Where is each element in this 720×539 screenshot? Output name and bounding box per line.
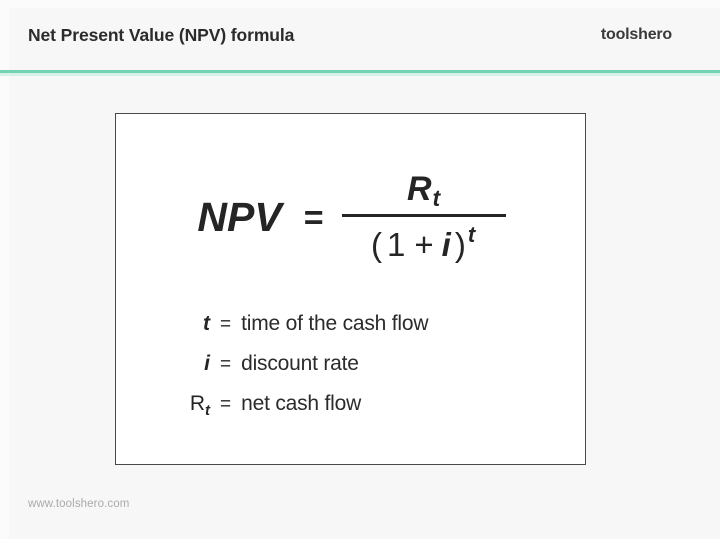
legend-equals-sign: =	[220, 314, 231, 336]
legend-symbol-main: i	[204, 352, 210, 375]
legend-row: i = discount rate	[116, 352, 587, 376]
legend-equals-sign: =	[220, 354, 231, 376]
legend-definition-text: net cash flow	[241, 392, 361, 416]
legend-symbol-subscript: t	[205, 402, 210, 419]
legend-definition-text: time of the cash flow	[241, 312, 428, 336]
footer-website-url[interactable]: www.toolshero.com	[28, 498, 129, 510]
numerator-subscript-t: t	[433, 185, 441, 211]
denominator-plus-sign: +	[414, 226, 434, 263]
legend-definition-text: discount rate	[241, 352, 359, 376]
equation-equals-sign: =	[304, 199, 324, 238]
denominator-superscript-t: t	[468, 222, 476, 247]
brand-logo-text: toolshero	[601, 26, 672, 44]
page-title: Net Present Value (NPV) formula	[28, 25, 294, 46]
denominator-number-one: 1	[387, 226, 406, 263]
legend-row: Rt = net cash flow	[116, 392, 587, 419]
fraction-denominator: (1+i)t	[371, 217, 476, 263]
fraction-expression: Rt (1+i)t	[342, 172, 506, 263]
legend-symbol-main: R	[190, 392, 205, 415]
numerator-variable-R: R	[407, 170, 432, 208]
fraction-numerator: Rt	[407, 172, 440, 214]
legend-equals-sign: =	[220, 394, 231, 416]
legend-row: t = time of the cash flow	[116, 312, 587, 336]
header-divider-highlight	[0, 73, 720, 76]
legend-symbol-main: t	[203, 312, 210, 335]
denominator-variable-i: i	[442, 226, 452, 263]
legend-symbol: t	[168, 312, 210, 336]
legend-symbol: Rt	[168, 392, 210, 419]
formula-container-box: NPV = Rt (1+i)t t = time of the cash flo…	[115, 113, 586, 465]
legend-symbol: i	[168, 352, 210, 376]
variable-legend-list: t = time of the cash flow i = discount r…	[116, 312, 587, 435]
page-root: Net Present Value (NPV) formula toolsher…	[0, 0, 720, 539]
npv-equation: NPV = Rt (1+i)t	[116, 142, 587, 292]
denominator-close-paren: )	[455, 226, 467, 263]
page-header: Net Present Value (NPV) formula toolsher…	[0, 0, 720, 70]
denominator-open-paren: (	[371, 226, 383, 263]
page-edge-left	[0, 0, 9, 539]
npv-acronym-label: NPV	[197, 194, 281, 241]
